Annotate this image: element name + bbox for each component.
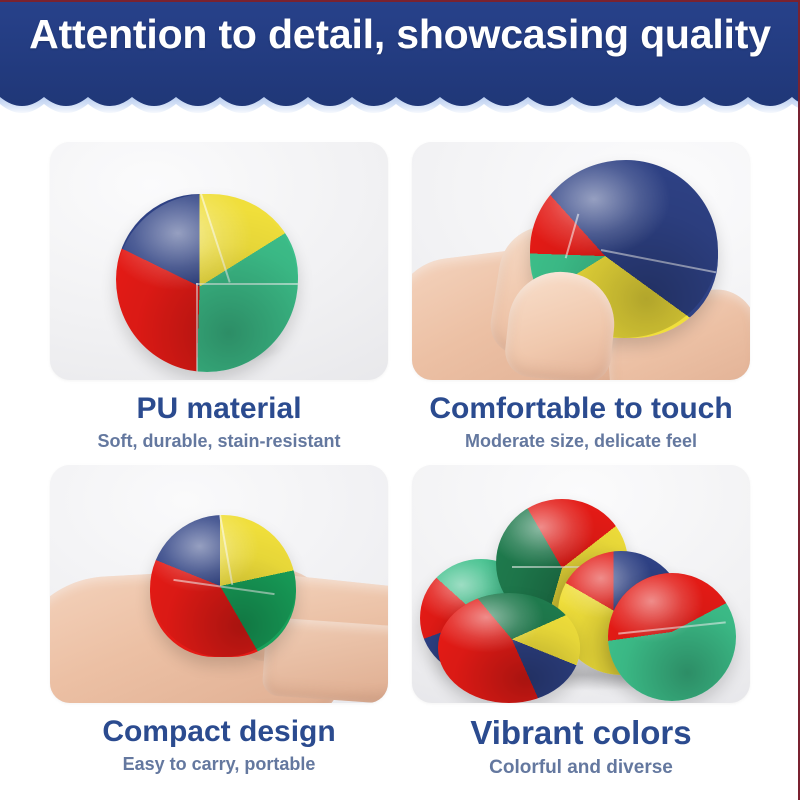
product-photo-single-ball xyxy=(50,142,388,380)
product-photo-ball-on-palm xyxy=(50,465,388,703)
scalloped-wave-divider xyxy=(0,81,800,114)
page-title: Attention to detail, showcasing quality xyxy=(0,2,800,56)
product-photo-ball-pile xyxy=(412,465,750,703)
juggling-ball xyxy=(608,573,736,701)
header-banner: Attention to detail, showcasing quality xyxy=(0,2,800,114)
feature-card-pu-material: PU material Soft, durable, stain-resista… xyxy=(50,142,388,451)
card-subtitle: Colorful and diverse xyxy=(489,758,673,779)
feature-card-compact-design: Compact design Easy to carry, portable xyxy=(50,465,388,779)
juggling-ball xyxy=(438,593,580,703)
product-photo-pinched-ball xyxy=(412,142,750,380)
card-title: Vibrant colors xyxy=(470,716,691,751)
juggling-ball xyxy=(150,515,296,657)
juggling-ball xyxy=(116,194,298,372)
feature-grid: PU material Soft, durable, stain-resista… xyxy=(0,142,800,779)
card-title: PU material xyxy=(136,393,301,425)
card-subtitle: Easy to carry, portable xyxy=(123,755,316,775)
feature-card-comfortable-to-touch: Comfortable to touch Moderate size, deli… xyxy=(412,142,750,451)
card-subtitle: Soft, durable, stain-resistant xyxy=(97,432,340,452)
feature-card-vibrant-colors: Vibrant colors Colorful and diverse xyxy=(412,465,750,779)
card-subtitle: Moderate size, delicate feel xyxy=(465,432,697,452)
card-title: Compact design xyxy=(102,716,335,748)
card-title: Comfortable to touch xyxy=(429,393,732,425)
infographic-page: Attention to detail, showcasing quality xyxy=(0,0,800,800)
